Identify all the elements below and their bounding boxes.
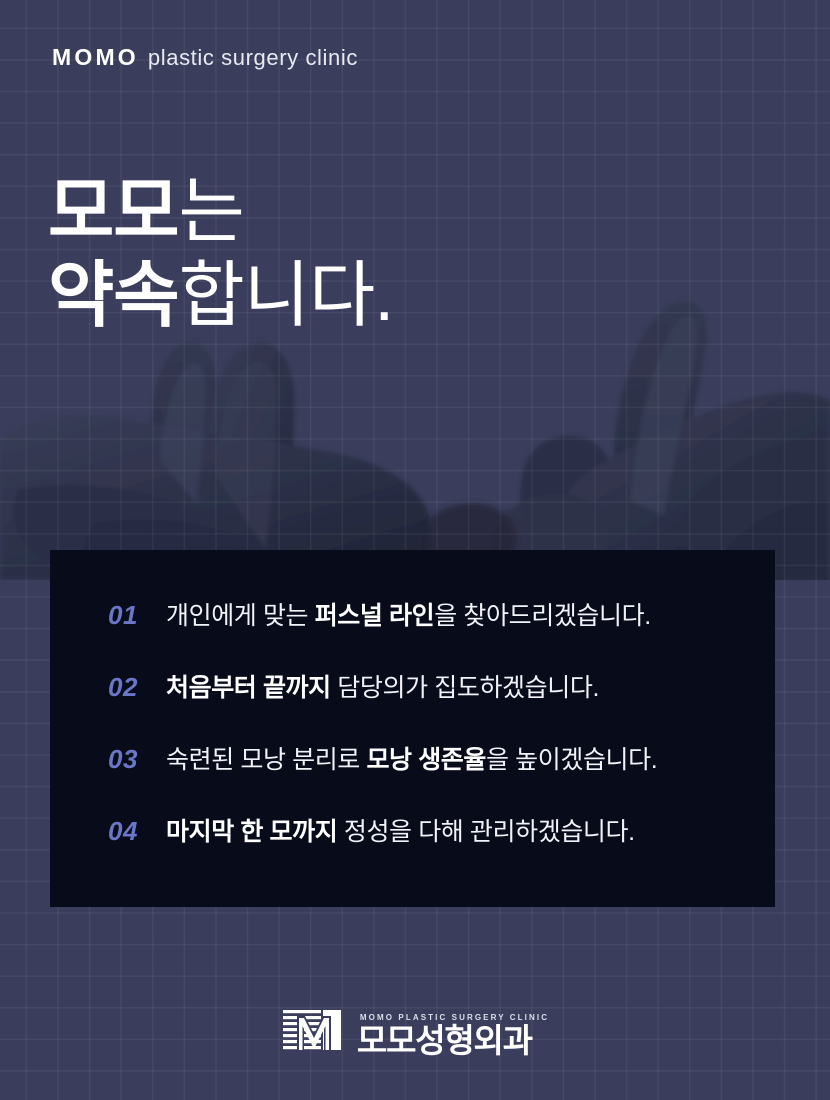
footer-logo: MOMO PLASTIC SURGERY CLINIC 모모성형외과 [0, 1008, 830, 1064]
promise-text: 처음부터 끝까지 담당의가 집도하겠습니다. [166, 668, 599, 704]
momo-m-logo-icon [281, 1008, 343, 1064]
promise-text-bold: 처음부터 끝까지 [166, 674, 331, 702]
promise-text-bold: 퍼스널 라인 [315, 602, 435, 630]
headline-line-1-light: 는 [178, 172, 243, 252]
list-item: 02 처음부터 끝까지 담당의가 집도하겠습니다. [50, 668, 775, 740]
header-logotype: MOMO plastic surgery clinic [52, 44, 358, 71]
headline-line-1-bold: 모모 [48, 172, 178, 252]
promise-number: 01 [108, 600, 150, 631]
poster-canvas: MOMO plastic surgery clinic 모모는 약속합니다. 0… [0, 0, 830, 1100]
promise-text: 숙련된 모낭 분리로 모낭 생존율을 높이겠습니다. [166, 740, 657, 776]
headline-line-2-bold: 약속 [48, 256, 178, 336]
headline-line-2-light: 합니다. [178, 256, 393, 336]
page-title: 모모는 약속합니다. [48, 176, 393, 334]
footer-korean-name: 모모성형외과 [357, 1024, 549, 1059]
footer-name-block: MOMO PLASTIC SURGERY CLINIC 모모성형외과 [357, 1013, 549, 1059]
promise-text-bold: 마지막 한 모까지 [166, 818, 337, 846]
promise-number: 02 [108, 672, 150, 703]
promise-text-post: 을 찾아드리겠습니다. [434, 602, 651, 630]
list-item: 04 마지막 한 모까지 정성을 다해 관리하겠습니다. [50, 812, 775, 884]
promise-text-bold: 모낭 생존율 [366, 746, 486, 774]
promise-text-post: 정성을 다해 관리하겠습니다. [337, 818, 634, 846]
promise-number: 04 [108, 816, 150, 847]
promise-text-pre: 개인에게 맞는 [166, 602, 315, 630]
list-item: 03 숙련된 모낭 분리로 모낭 생존율을 높이겠습니다. [50, 740, 775, 812]
header-subtitle: plastic surgery clinic [148, 45, 358, 71]
promise-text: 개인에게 맞는 퍼스널 라인을 찾아드리겠습니다. [166, 596, 651, 632]
headline-line-1: 모모는 [48, 176, 393, 249]
header-brand-momo: MOMO [52, 44, 139, 71]
promise-text-post: 담당의가 집도하겠습니다. [331, 674, 599, 702]
promise-text: 마지막 한 모까지 정성을 다해 관리하겠습니다. [166, 812, 635, 848]
promise-panel: 01 개인에게 맞는 퍼스널 라인을 찾아드리겠습니다. 02 처음부터 끝까지… [50, 550, 775, 907]
promise-text-pre: 숙련된 모낭 분리로 [166, 746, 366, 774]
list-item: 01 개인에게 맞는 퍼스널 라인을 찾아드리겠습니다. [50, 596, 775, 668]
footer-english-name: MOMO PLASTIC SURGERY CLINIC [357, 1013, 549, 1022]
headline-line-2: 약속합니다. [48, 260, 393, 333]
promise-number: 03 [108, 744, 150, 775]
promise-text-post: 을 높이겠습니다. [486, 746, 657, 774]
